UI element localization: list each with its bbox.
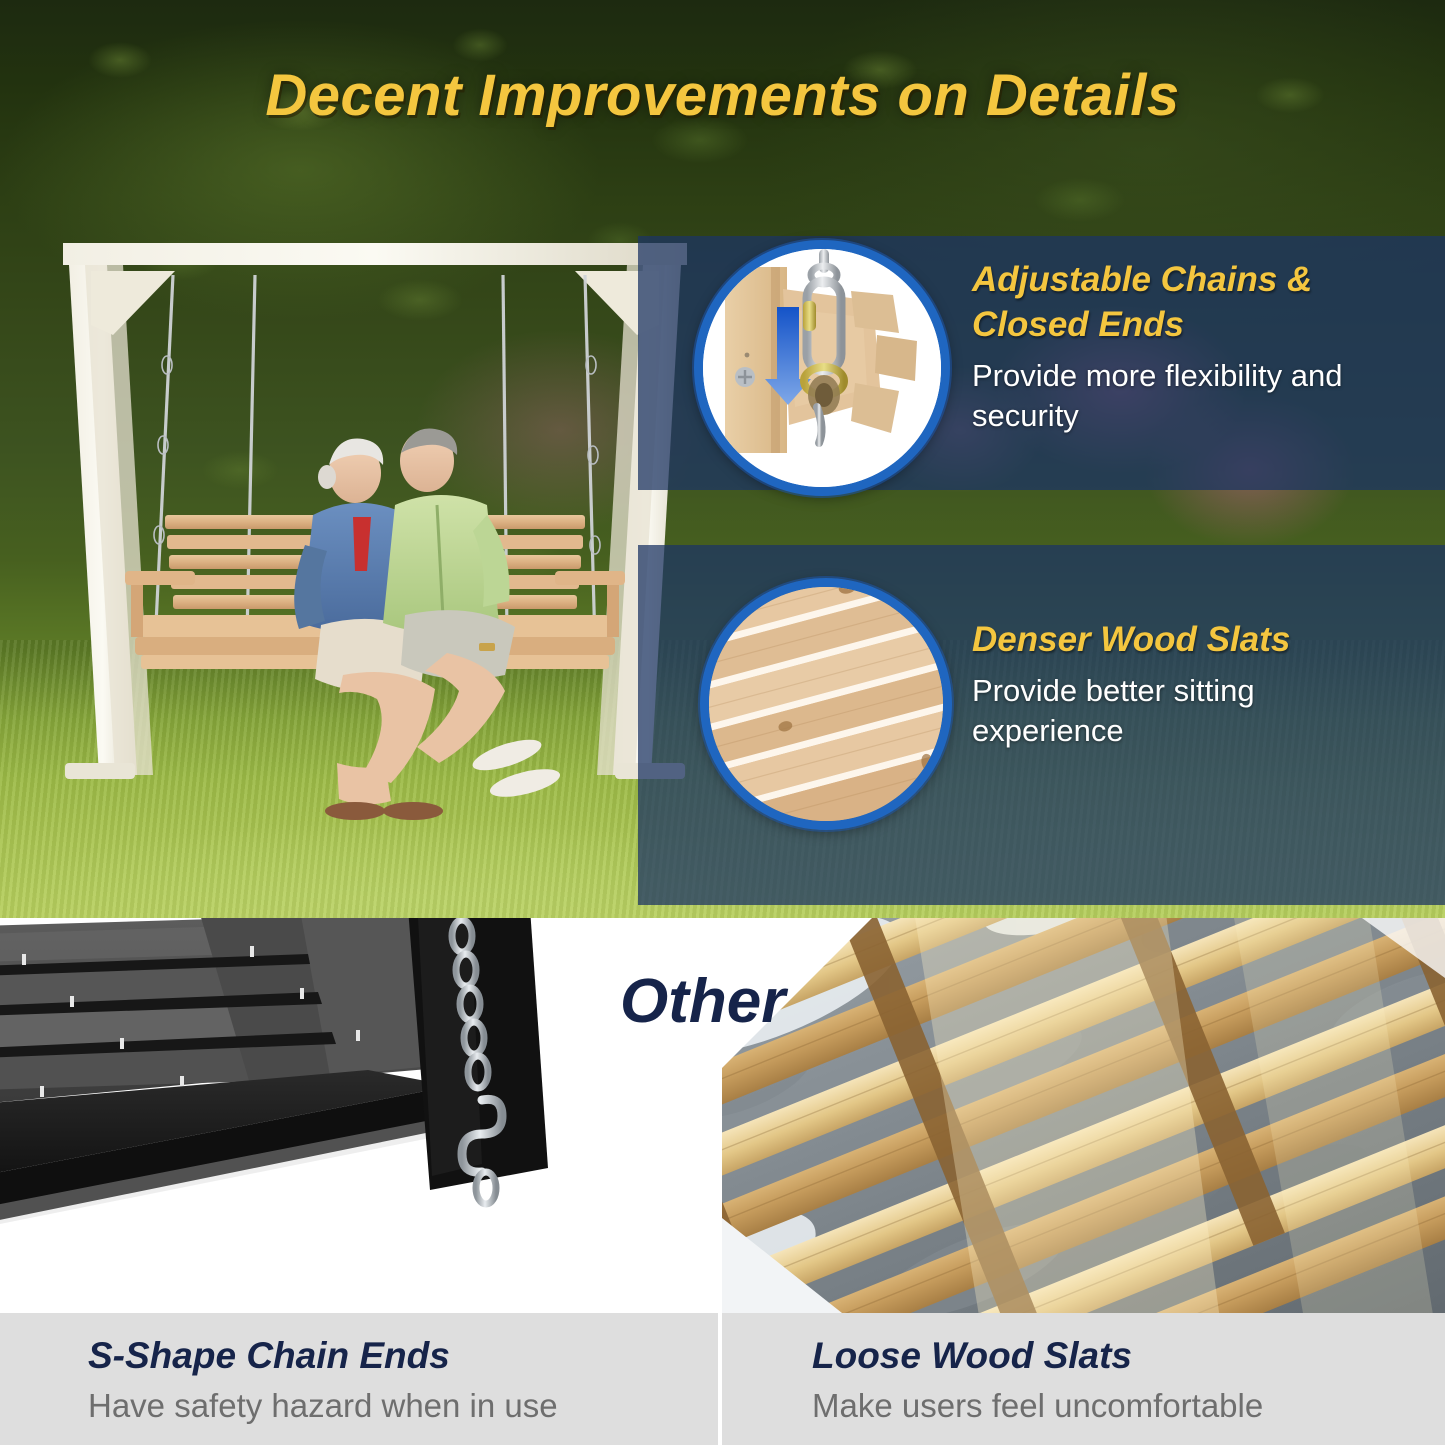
feature-text-denser-wood-slats: Denser Wood Slats Provide better sitting…	[972, 618, 1392, 751]
feature-desc: Provide better sitting experience	[972, 671, 1392, 752]
feature-desc: Provide more flexibility and security	[972, 356, 1392, 437]
feature-text-adjustable-chains: Adjustable Chains & Closed Ends Provide …	[972, 258, 1392, 436]
infographic-page: Decent Improvements on Details	[0, 0, 1445, 1445]
other-heading: Other	[620, 966, 785, 1037]
feature-title: Denser Wood Slats	[972, 618, 1392, 663]
caption-desc: Make users feel uncomfortable	[812, 1387, 1263, 1425]
caption-desc: Have safety hazard when in use	[88, 1387, 558, 1425]
caption-title: S-Shape Chain Ends	[88, 1335, 450, 1377]
caption-loose-wood-slats: Loose Wood Slats Make users feel uncomfo…	[722, 1313, 1445, 1445]
wood-slats-closeup-icon	[700, 578, 952, 830]
loose-wood-slats-icon	[722, 918, 1445, 1313]
caption-s-shape-chain-ends: S-Shape Chain Ends Have safety hazard wh…	[0, 1313, 718, 1445]
hero-section: Decent Improvements on Details	[0, 0, 1445, 918]
main-product-photo	[55, 215, 695, 855]
chain-link-closeup-icon	[694, 240, 950, 496]
caption-title: Loose Wood Slats	[812, 1335, 1132, 1377]
feature-title: Adjustable Chains & Closed Ends	[972, 258, 1392, 348]
page-title: Decent Improvements on Details	[0, 62, 1445, 129]
black-swing-s-hook-chain-icon	[0, 918, 718, 1313]
